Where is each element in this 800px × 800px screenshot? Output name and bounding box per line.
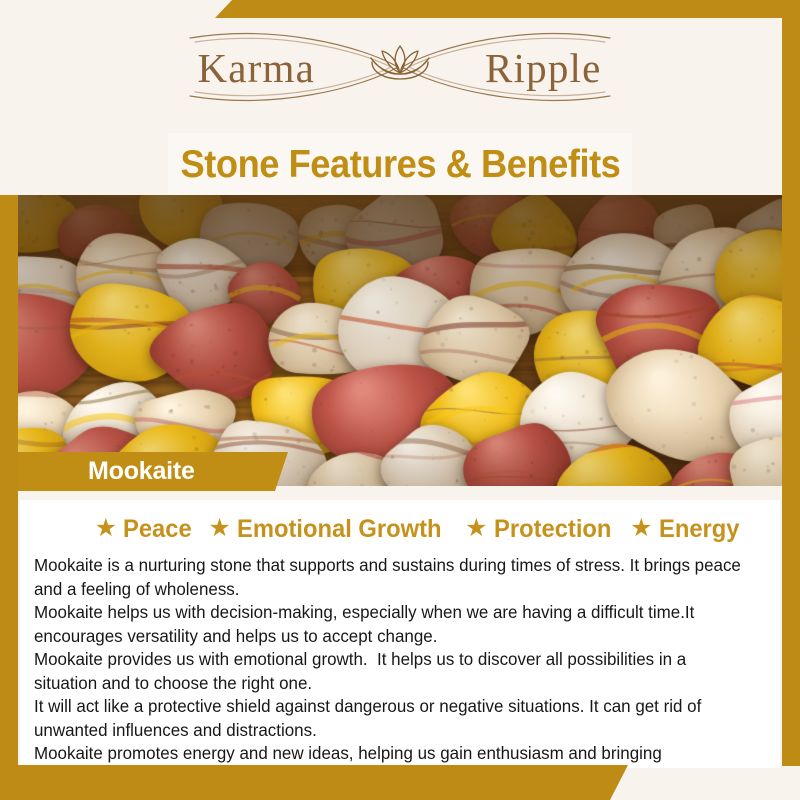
star-icon: ★: [465, 516, 487, 541]
frame-right-bar: [782, 18, 800, 766]
star-icon: ★: [208, 516, 230, 541]
benefit-label: Energy: [659, 517, 740, 542]
lotus-icon: [371, 46, 429, 79]
description-paragraph: Mookaite is a nurturing stone that suppo…: [34, 554, 746, 601]
frame-left-bar: [0, 195, 18, 765]
title-strip: Stone Features & Benefits: [168, 133, 632, 195]
brand-name-right: Ripple: [485, 45, 602, 91]
star-icon: ★: [95, 516, 117, 541]
stone-photo-canvas: [18, 195, 782, 486]
benefit-item-emotional-growth: ★ Emotional Growth: [208, 517, 452, 542]
brand-logo[interactable]: Karma Ripple: [0, 28, 800, 106]
benefit-item-energy: ★ Energy: [630, 517, 743, 542]
logo-artwork: Karma Ripple: [165, 28, 635, 106]
stone-photo: [18, 195, 782, 486]
description-paragraph: Mookaite helps us with decision-making, …: [34, 601, 746, 648]
stone-name: Mookaite: [88, 459, 195, 484]
content-panel: ★ Peace ★ Emotional Growth ★ Protection …: [20, 500, 780, 768]
benefit-label: Emotional Growth: [237, 517, 442, 542]
benefit-label: Protection: [494, 517, 611, 542]
benefits-row: ★ Peace ★ Emotional Growth ★ Protection …: [28, 510, 772, 548]
star-icon: ★: [630, 516, 652, 541]
benefit-item-peace: ★ Peace: [95, 517, 196, 542]
benefit-item-protection: ★ Protection: [465, 517, 617, 542]
brand-name-left: Karma: [197, 45, 315, 91]
description-paragraph: Mookaite provides us with emotional grow…: [34, 648, 746, 695]
description-block: Mookaite is a nurturing stone that suppo…: [28, 554, 772, 789]
benefit-label: Peace: [123, 517, 192, 542]
page-title: Stone Features & Benefits: [180, 145, 620, 184]
frame-top-bar: [215, 0, 800, 18]
stone-name-banner: Mookaite: [0, 452, 288, 491]
frame-bottom-bar: [0, 765, 628, 800]
description-paragraph: It will act like a protective shield aga…: [34, 695, 746, 742]
infographic-page: Karma Ripple Stone Features & Benefits M…: [0, 0, 800, 800]
